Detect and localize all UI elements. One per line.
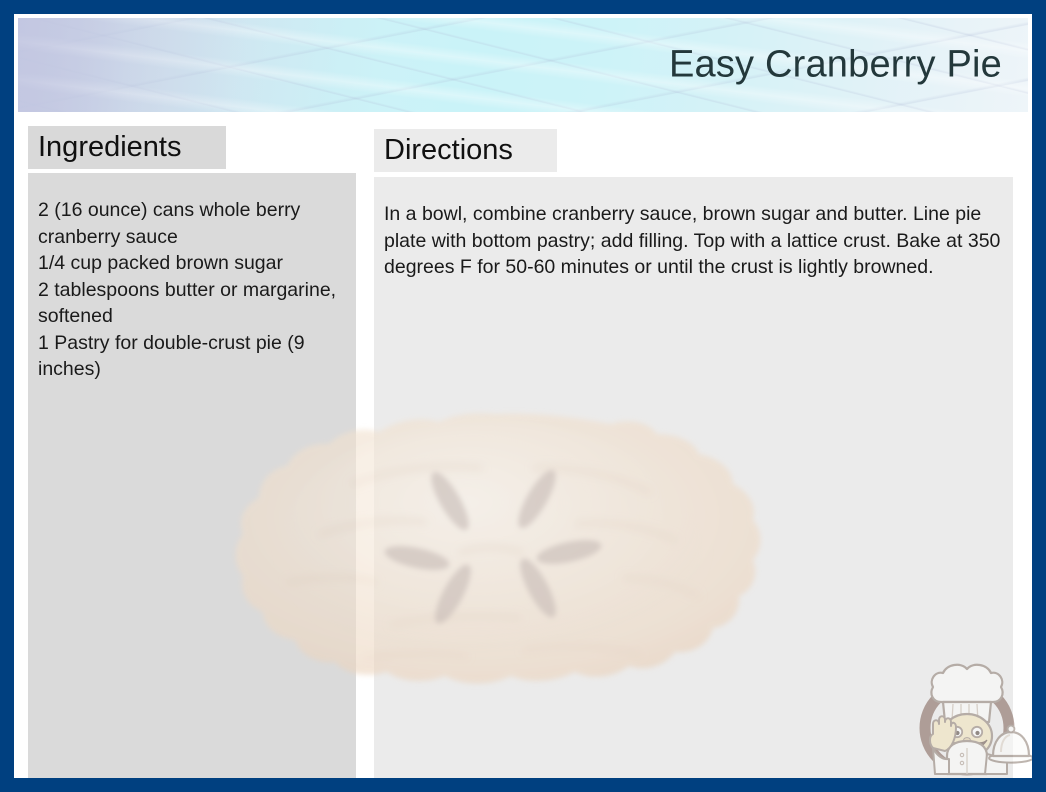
ingredients-list: 2 (16 ounce) cans whole berry cranberry … bbox=[28, 173, 356, 778]
ingredients-heading: Ingredients bbox=[28, 126, 226, 169]
banner-left-shade bbox=[18, 18, 258, 112]
column-divider bbox=[356, 173, 374, 778]
directions-heading: Directions bbox=[374, 129, 557, 172]
page-title: Easy Cranberry Pie bbox=[669, 44, 1002, 87]
recipe-slide: Easy Cranberry Pie Ingredients 2 (16 oun… bbox=[0, 0, 1046, 792]
header-banner: Easy Cranberry Pie bbox=[18, 18, 1028, 112]
directions-text: In a bowl, combine cranberry sauce, brow… bbox=[374, 177, 1013, 778]
slide-canvas: Easy Cranberry Pie Ingredients 2 (16 oun… bbox=[14, 14, 1032, 778]
